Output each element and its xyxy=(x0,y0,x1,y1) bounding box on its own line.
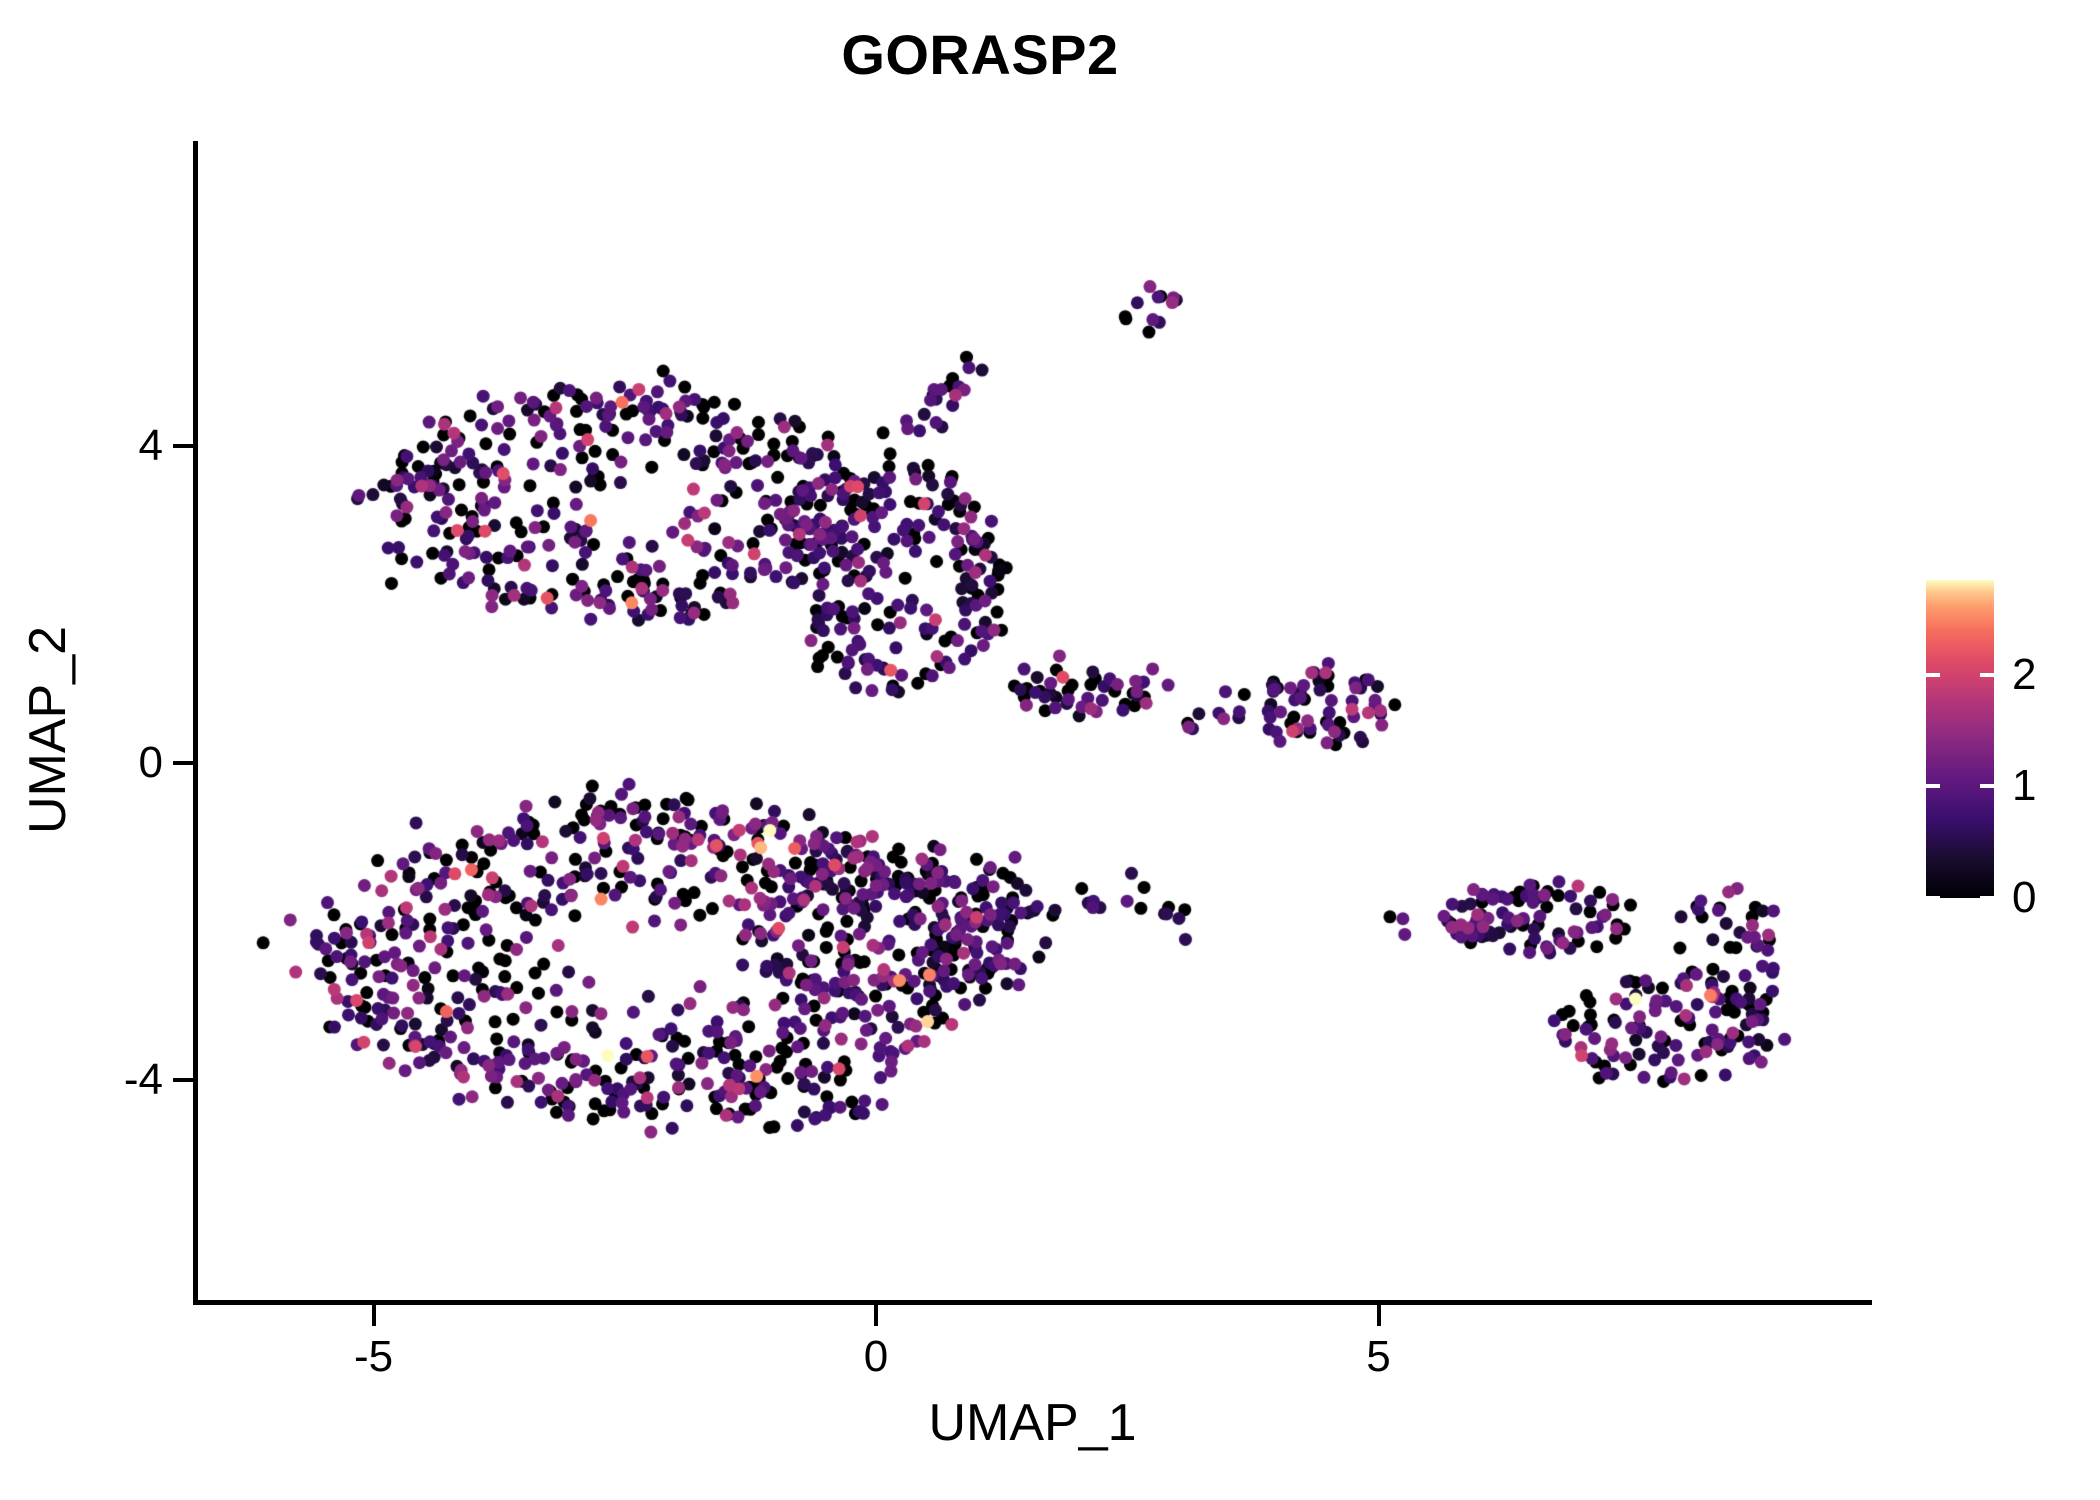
y-tick-mark xyxy=(173,761,194,765)
y-tick-mark xyxy=(173,444,194,448)
colorbar-tick-mark xyxy=(1926,784,1940,788)
colorbar-tick-mark xyxy=(1980,896,1994,900)
colorbar-tick-label: 1 xyxy=(2012,761,2036,811)
colorbar-tick-mark xyxy=(1926,896,1940,900)
y-tick-label: 4 xyxy=(139,421,163,471)
colorbar-gradient xyxy=(1926,580,1994,898)
colorbar-tick-label: 0 xyxy=(2012,873,2036,923)
scatter-plot-canvas xyxy=(0,0,2100,1500)
x-axis-label: UMAP_1 xyxy=(193,1393,1872,1453)
y-axis-label: UMAP_2 xyxy=(18,148,78,1312)
y-tick-label: 0 xyxy=(139,738,163,788)
x-tick-label: 0 xyxy=(864,1332,888,1382)
x-tick-label: -5 xyxy=(354,1332,393,1382)
colorbar-tick-mark xyxy=(1980,784,1994,788)
x-tick-mark xyxy=(1377,1305,1381,1326)
x-axis-line xyxy=(193,1300,1872,1305)
colorbar-legend xyxy=(1926,580,1994,898)
colorbar-tick-label: 2 xyxy=(2012,650,2036,700)
y-axis-line xyxy=(193,141,198,1305)
colorbar-tick-mark xyxy=(1926,673,1940,677)
x-tick-mark xyxy=(372,1305,376,1326)
x-tick-mark xyxy=(874,1305,878,1326)
x-tick-label: 5 xyxy=(1366,1332,1390,1382)
umap-feature-plot: GORASP2 -404-505 UMAP_1 UMAP_2 210 xyxy=(0,0,2100,1500)
colorbar-tick-mark xyxy=(1980,673,1994,677)
y-tick-label: -4 xyxy=(124,1055,163,1105)
y-tick-mark xyxy=(173,1078,194,1082)
